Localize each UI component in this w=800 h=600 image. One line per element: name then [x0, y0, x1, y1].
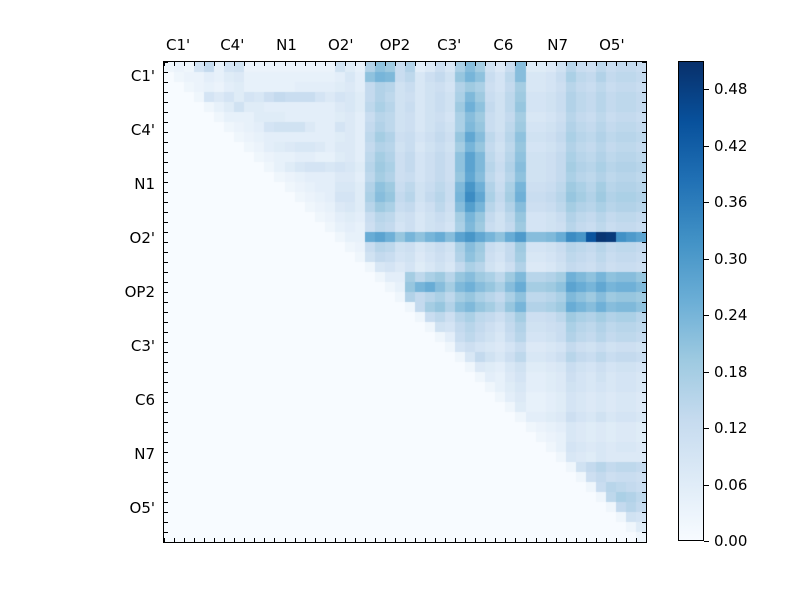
x-tick-bottom [495, 538, 496, 542]
y-tick-right [642, 102, 646, 103]
y-tick-label-2: N1 [134, 175, 155, 193]
x-tick-label-6: C6 [493, 36, 513, 54]
x-tick-bottom [305, 538, 306, 542]
x-tick-bottom [395, 538, 396, 542]
y-tick-right [642, 252, 646, 253]
x-tick-bottom [375, 538, 376, 542]
x-tick-top [365, 62, 366, 66]
x-tick-bottom [455, 538, 456, 542]
y-tick-right [642, 502, 646, 503]
x-tick-top [405, 62, 406, 66]
y-tick-right [642, 212, 646, 213]
y-tick-left [164, 442, 168, 443]
colorbar-tick-8 [704, 89, 709, 90]
y-tick-right [642, 332, 646, 333]
y-tick-label-5: C3' [131, 337, 155, 355]
y-tick-left [164, 402, 168, 403]
x-tick-top [375, 62, 376, 66]
x-tick-bottom [234, 538, 235, 542]
y-tick-right [642, 172, 646, 173]
y-tick-left [164, 202, 168, 203]
x-tick-bottom [556, 538, 557, 542]
x-tick-top [204, 62, 205, 66]
colorbar-tick-6 [704, 202, 709, 203]
x-tick-bottom [355, 538, 356, 542]
y-tick-right [642, 142, 646, 143]
y-tick-right [642, 282, 646, 283]
x-tick-top [174, 62, 175, 66]
y-tick-right [642, 432, 646, 433]
heatmap-plot-area[interactable] [163, 61, 647, 543]
y-tick-right [642, 202, 646, 203]
x-tick-bottom [475, 538, 476, 542]
x-tick-top [335, 62, 336, 66]
colorbar-tick-4 [704, 315, 709, 316]
x-tick-bottom [606, 538, 607, 542]
y-tick-right [642, 152, 646, 153]
y-tick-right [642, 462, 646, 463]
x-tick-bottom [435, 538, 436, 542]
x-tick-bottom [325, 538, 326, 542]
y-tick-right [642, 512, 646, 513]
y-tick-right [642, 72, 646, 73]
x-tick-top [596, 62, 597, 66]
y-tick-left [164, 232, 168, 233]
y-tick-right [642, 352, 646, 353]
y-tick-right [642, 302, 646, 303]
colorbar-tick-label-5: 0.30 [714, 250, 747, 268]
y-tick-left [164, 452, 168, 453]
y-tick-left [164, 92, 168, 93]
y-tick-right [642, 272, 646, 273]
y-tick-right [642, 62, 646, 63]
x-tick-bottom [526, 538, 527, 542]
y-tick-right [642, 312, 646, 313]
colorbar-tick-label-0: 0.00 [714, 532, 747, 550]
y-tick-right [642, 322, 646, 323]
y-tick-left [164, 122, 168, 123]
y-tick-right [642, 112, 646, 113]
x-tick-top [315, 62, 316, 66]
x-tick-bottom [254, 538, 255, 542]
y-tick-left [164, 412, 168, 413]
x-tick-bottom [315, 538, 316, 542]
x-tick-bottom [224, 538, 225, 542]
y-tick-left [164, 282, 168, 283]
x-tick-label-7: N7 [547, 36, 568, 54]
y-tick-right [642, 362, 646, 363]
y-tick-right [642, 232, 646, 233]
y-tick-left [164, 222, 168, 223]
colorbar-gradient [679, 62, 703, 540]
x-tick-bottom [285, 538, 286, 542]
y-tick-left [164, 172, 168, 173]
x-tick-bottom [636, 538, 637, 542]
y-tick-left [164, 512, 168, 513]
x-tick-bottom [445, 538, 446, 542]
heatmap-cells[interactable] [164, 62, 646, 542]
x-tick-bottom [405, 538, 406, 542]
x-tick-top [485, 62, 486, 66]
x-tick-label-8: O5' [599, 36, 624, 54]
y-tick-label-8: O5' [130, 499, 155, 517]
y-tick-left [164, 252, 168, 253]
y-tick-right [642, 542, 646, 543]
x-tick-bottom [184, 538, 185, 542]
colorbar-tick-1 [704, 485, 709, 486]
x-tick-top [626, 62, 627, 66]
colorbar-gradient-frame [678, 61, 704, 541]
y-tick-left [164, 532, 168, 533]
x-tick-top [395, 62, 396, 66]
y-tick-left [164, 472, 168, 473]
x-tick-bottom [465, 538, 466, 542]
x-tick-bottom [485, 538, 486, 542]
y-tick-left [164, 292, 168, 293]
x-tick-label-4: OP2 [380, 36, 410, 54]
y-tick-right [642, 522, 646, 523]
y-tick-left [164, 192, 168, 193]
colorbar-tick-label-3: 0.18 [714, 363, 747, 381]
x-tick-bottom [365, 538, 366, 542]
x-tick-top [505, 62, 506, 66]
y-tick-left [164, 162, 168, 163]
y-tick-left [164, 332, 168, 333]
y-tick-left [164, 262, 168, 263]
colorbar-tick-3 [704, 372, 709, 373]
y-tick-left [164, 382, 168, 383]
x-tick-bottom [515, 538, 516, 542]
x-tick-top [325, 62, 326, 66]
x-tick-bottom [646, 538, 647, 542]
y-tick-left [164, 502, 168, 503]
x-tick-bottom [576, 538, 577, 542]
x-tick-bottom [385, 538, 386, 542]
x-tick-top [495, 62, 496, 66]
y-tick-right [642, 262, 646, 263]
y-tick-right [642, 482, 646, 483]
y-tick-left [164, 102, 168, 103]
x-tick-top [285, 62, 286, 66]
x-tick-bottom [264, 538, 265, 542]
x-tick-bottom [295, 538, 296, 542]
x-tick-top [515, 62, 516, 66]
x-tick-bottom [415, 538, 416, 542]
x-tick-top [214, 62, 215, 66]
y-tick-left [164, 352, 168, 353]
y-tick-right [642, 182, 646, 183]
x-tick-bottom [244, 538, 245, 542]
colorbar-tick-0 [704, 541, 709, 542]
y-tick-right [642, 92, 646, 93]
x-tick-bottom [174, 538, 175, 542]
y-tick-left [164, 242, 168, 243]
x-tick-top [355, 62, 356, 66]
colorbar-tick-label-2: 0.12 [714, 419, 747, 437]
y-tick-left [164, 142, 168, 143]
x-tick-bottom [566, 538, 567, 542]
x-tick-top [435, 62, 436, 66]
x-tick-bottom [546, 538, 547, 542]
y-axis-tick-labels: C1'C4'N1O2'OP2C3'C6N7O5' [100, 61, 155, 541]
y-tick-right [642, 122, 646, 123]
x-tick-top [234, 62, 235, 66]
y-tick-right [642, 422, 646, 423]
y-tick-left [164, 492, 168, 493]
x-tick-top [616, 62, 617, 66]
y-tick-right [642, 392, 646, 393]
y-tick-left [164, 422, 168, 423]
x-tick-top [305, 62, 306, 66]
y-tick-left [164, 542, 168, 543]
colorbar-tick-7 [704, 146, 709, 147]
x-tick-bottom [345, 538, 346, 542]
colorbar-tick-label-4: 0.24 [714, 306, 747, 324]
x-tick-top [425, 62, 426, 66]
y-tick-label-4: OP2 [125, 283, 155, 301]
y-tick-right [642, 372, 646, 373]
x-tick-label-5: C3' [437, 36, 461, 54]
y-tick-right [642, 472, 646, 473]
colorbar-tick-label-6: 0.36 [714, 193, 747, 211]
y-tick-right [642, 402, 646, 403]
heatmap-figure: C1'C4'N1O2'OP2C3'C6N7O5' C1'C4'N1O2'OP2C… [0, 0, 800, 600]
y-tick-right [642, 412, 646, 413]
x-tick-label-0: C1' [166, 36, 190, 54]
y-tick-left [164, 112, 168, 113]
y-tick-left [164, 212, 168, 213]
x-tick-label-3: O2' [328, 36, 353, 54]
y-tick-left [164, 522, 168, 523]
x-tick-top [445, 62, 446, 66]
x-tick-bottom [596, 538, 597, 542]
x-tick-top [254, 62, 255, 66]
y-tick-left [164, 462, 168, 463]
colorbar-tick-label-1: 0.06 [714, 476, 747, 494]
x-tick-top [526, 62, 527, 66]
x-tick-top [274, 62, 275, 66]
y-tick-left [164, 392, 168, 393]
colorbar-tick-label-8: 0.48 [714, 80, 747, 98]
y-tick-label-1: C4' [131, 121, 155, 139]
x-tick-bottom [274, 538, 275, 542]
y-tick-right [642, 442, 646, 443]
x-tick-bottom [425, 538, 426, 542]
y-tick-right [642, 452, 646, 453]
y-tick-label-3: O2' [130, 229, 155, 247]
y-tick-left [164, 72, 168, 73]
y-tick-left [164, 272, 168, 273]
x-tick-top [536, 62, 537, 66]
y-tick-right [642, 532, 646, 533]
y-tick-right [642, 192, 646, 193]
y-tick-right [642, 242, 646, 243]
x-tick-top [194, 62, 195, 66]
y-tick-left [164, 322, 168, 323]
x-tick-bottom [214, 538, 215, 542]
x-tick-bottom [616, 538, 617, 542]
y-tick-label-7: N7 [134, 445, 155, 463]
y-tick-left [164, 482, 168, 483]
y-tick-left [164, 312, 168, 313]
x-tick-bottom [536, 538, 537, 542]
y-tick-right [642, 222, 646, 223]
y-tick-right [642, 382, 646, 383]
y-tick-right [642, 342, 646, 343]
x-tick-top [546, 62, 547, 66]
x-tick-top [475, 62, 476, 66]
x-tick-label-2: N1 [276, 36, 297, 54]
y-tick-left [164, 372, 168, 373]
y-tick-left [164, 342, 168, 343]
x-tick-top [576, 62, 577, 66]
x-tick-top [295, 62, 296, 66]
y-tick-right [642, 82, 646, 83]
x-tick-top [465, 62, 466, 66]
colorbar-tick-5 [704, 259, 709, 260]
x-tick-bottom [586, 538, 587, 542]
y-tick-label-6: C6 [135, 391, 155, 409]
x-tick-top [646, 62, 647, 66]
y-tick-left [164, 302, 168, 303]
y-tick-left [164, 152, 168, 153]
x-tick-top [455, 62, 456, 66]
x-tick-top [586, 62, 587, 66]
x-tick-bottom [505, 538, 506, 542]
x-tick-bottom [626, 538, 627, 542]
y-tick-left [164, 362, 168, 363]
colorbar-tick-2 [704, 428, 709, 429]
x-tick-top [566, 62, 567, 66]
y-tick-left [164, 182, 168, 183]
x-tick-top [415, 62, 416, 66]
y-tick-right [642, 492, 646, 493]
y-tick-right [642, 162, 646, 163]
x-tick-top [556, 62, 557, 66]
x-tick-top [345, 62, 346, 66]
x-tick-top [636, 62, 637, 66]
y-tick-left [164, 82, 168, 83]
y-tick-right [642, 132, 646, 133]
x-tick-top [264, 62, 265, 66]
y-tick-left [164, 62, 168, 63]
x-tick-top [224, 62, 225, 66]
x-tick-top [244, 62, 245, 66]
x-tick-bottom [204, 538, 205, 542]
y-tick-left [164, 132, 168, 133]
colorbar[interactable]: 0.000.060.120.180.240.300.360.420.48 [678, 61, 704, 541]
x-tick-top [385, 62, 386, 66]
y-tick-right [642, 292, 646, 293]
x-tick-bottom [335, 538, 336, 542]
y-tick-label-0: C1' [131, 67, 155, 85]
x-tick-top [606, 62, 607, 66]
x-tick-label-1: C4' [220, 36, 244, 54]
y-tick-left [164, 432, 168, 433]
x-tick-bottom [194, 538, 195, 542]
x-tick-top [184, 62, 185, 66]
colorbar-tick-label-7: 0.42 [714, 137, 747, 155]
